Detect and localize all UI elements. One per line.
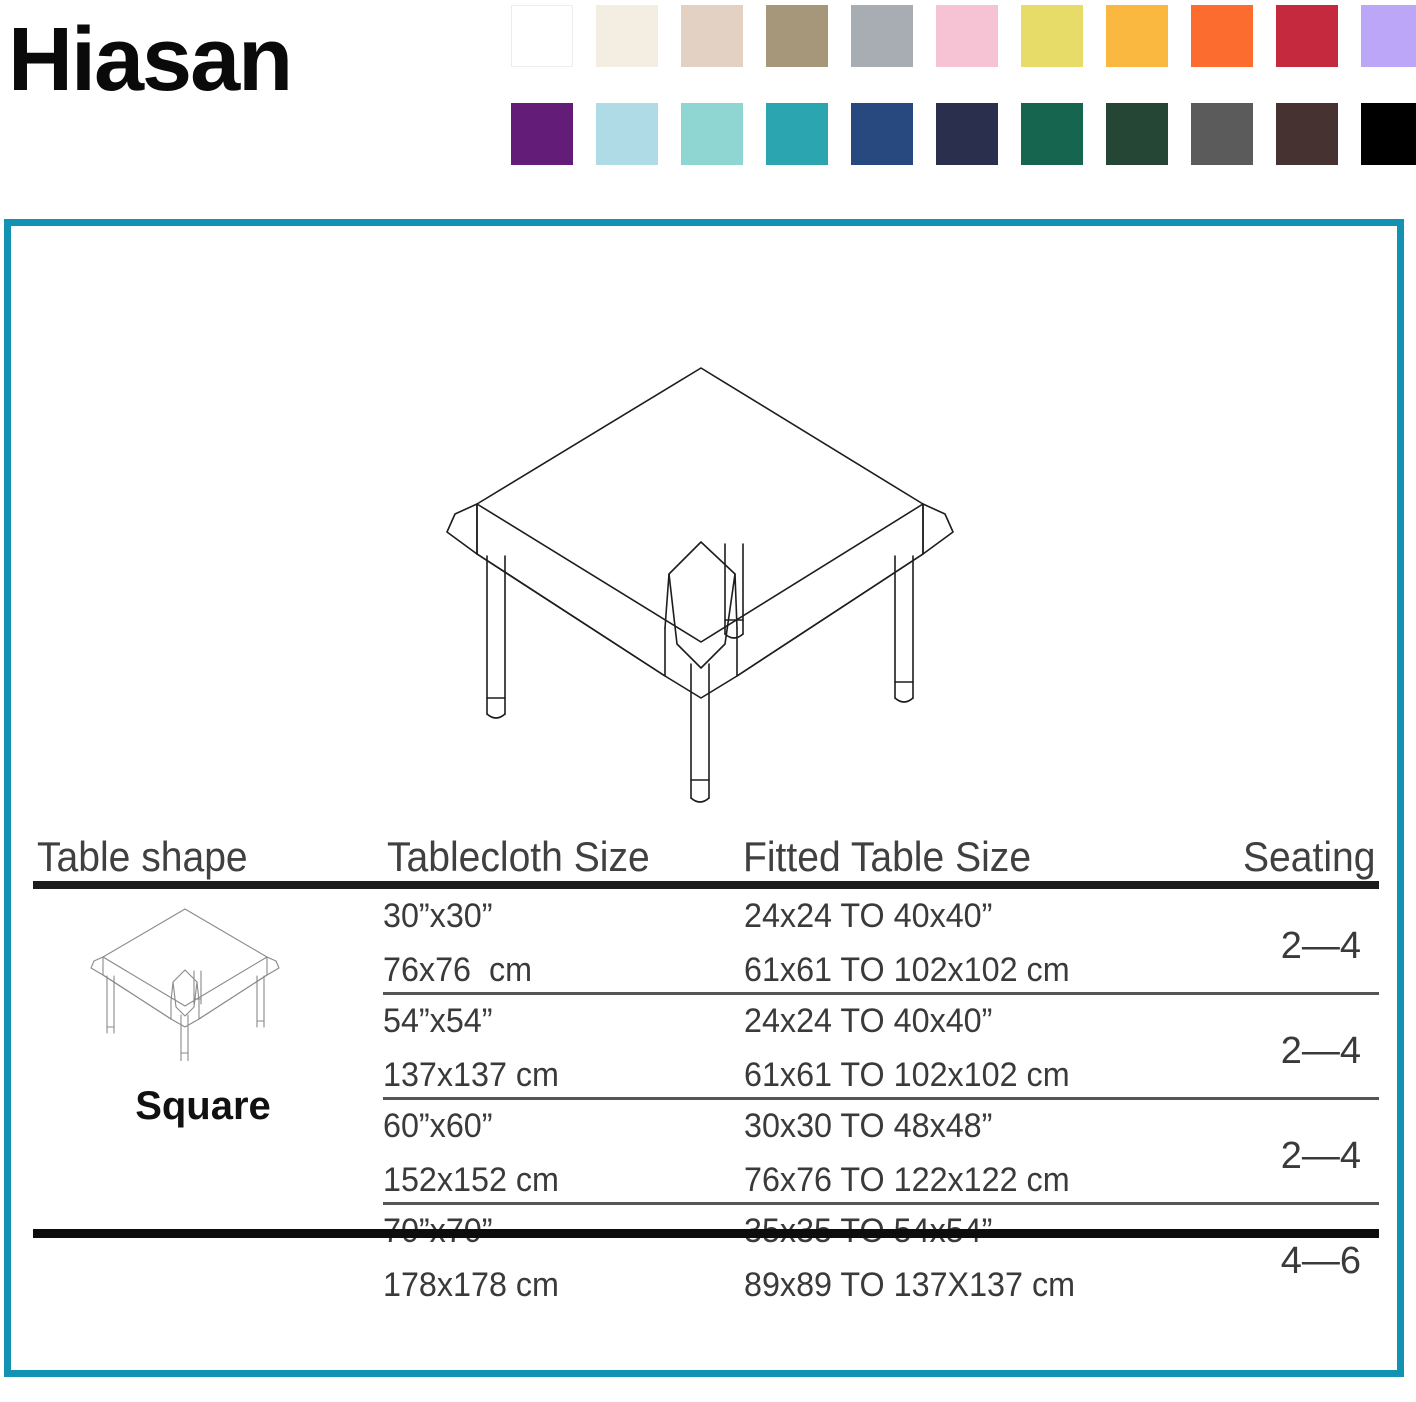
header-band: Hiasan: [0, 0, 1416, 205]
color-swatch-black[interactable]: [1361, 103, 1416, 165]
table-body: Square 30”x30”76x76 cm24x24 TO 40x40”61x…: [33, 889, 1379, 1309]
cell-tablecloth-size-inches: 30”x30”: [383, 897, 493, 936]
cell-fitted-size-inches: 24x24 TO 40x40”: [744, 897, 992, 936]
cell-tablecloth-size-cm: 76x76 cm: [383, 951, 532, 990]
color-swatch-purple[interactable]: [511, 103, 573, 165]
color-swatch-brown[interactable]: [1276, 103, 1338, 165]
column-header-tablecloth-size: Tablecloth Size: [387, 833, 650, 881]
color-swatch-dark-gray[interactable]: [1191, 103, 1253, 165]
size-chart-panel: Table shape Tablecloth Size Fitted Table…: [4, 219, 1404, 1377]
column-header-table-shape: Table shape: [37, 833, 248, 881]
cell-tablecloth-size-cm: 152x152 cm: [383, 1161, 559, 1200]
color-swatch-lavender[interactable]: [1361, 5, 1416, 67]
color-swatch-emerald[interactable]: [1021, 103, 1083, 165]
color-swatch-yellow[interactable]: [1021, 5, 1083, 67]
color-swatch-teal[interactable]: [766, 103, 828, 165]
table-row: 60”x60”152x152 cm30x30 TO 48x48”76x76 TO…: [33, 1099, 1379, 1204]
color-swatch-orange[interactable]: [1191, 5, 1253, 67]
cell-fitted-size-cm: 76x76 TO 122x122 cm: [744, 1161, 1070, 1200]
color-swatch-navy[interactable]: [936, 103, 998, 165]
color-swatch-gray[interactable]: [851, 5, 913, 67]
header-divider-rule: [33, 881, 1379, 889]
color-swatch-pink[interactable]: [936, 5, 998, 67]
cell-fitted-size-cm: 61x61 TO 102x102 cm: [744, 1056, 1070, 1095]
color-swatch-blue[interactable]: [851, 103, 913, 165]
color-swatch-beige[interactable]: [681, 5, 743, 67]
cell-tablecloth-size-inches: 54”x54”: [383, 1002, 493, 1041]
cell-fitted-size-inches: 30x30 TO 48x48”: [744, 1107, 992, 1146]
size-table: Table shape Tablecloth Size Fitted Table…: [33, 809, 1379, 1309]
color-swatch-row-2: [511, 103, 1411, 165]
color-swatch-taupe[interactable]: [766, 5, 828, 67]
table-row: 70”x70”178x178 cm35x35 TO 54x54”89x89 TO…: [33, 1204, 1379, 1309]
table-row: 54”x54”137x137 cm24x24 TO 40x40”61x61 TO…: [33, 994, 1379, 1099]
cell-seating: 4—6: [1281, 1240, 1361, 1283]
cell-tablecloth-size-inches: 60”x60”: [383, 1107, 493, 1146]
cell-fitted-size-cm: 89x89 TO 137X137 cm: [744, 1266, 1075, 1305]
color-swatch-grid: [511, 5, 1411, 201]
color-swatch-forest[interactable]: [1106, 103, 1168, 165]
cell-seating: 2—4: [1281, 1030, 1361, 1073]
cell-tablecloth-size-cm: 137x137 cm: [383, 1056, 559, 1095]
color-swatch-white[interactable]: [511, 5, 573, 67]
cell-tablecloth-size-cm: 178x178 cm: [383, 1266, 559, 1305]
color-swatch-gold[interactable]: [1106, 5, 1168, 67]
column-header-seating: Seating: [1243, 833, 1375, 881]
color-swatch-light-blue[interactable]: [596, 103, 658, 165]
column-header-fitted-size: Fitted Table Size: [743, 833, 1031, 881]
table-bottom-rule: [33, 1229, 1379, 1238]
square-tablecloth-illustration: [425, 346, 975, 816]
table-row: 30”x30”76x76 cm24x24 TO 40x40”61x61 TO 1…: [33, 889, 1379, 994]
table-header-row: Table shape Tablecloth Size Fitted Table…: [33, 809, 1379, 881]
color-swatch-red[interactable]: [1276, 5, 1338, 67]
cell-seating: 2—4: [1281, 925, 1361, 968]
color-swatch-aqua[interactable]: [681, 103, 743, 165]
color-swatch-ivory[interactable]: [596, 5, 658, 67]
cell-fitted-size-inches: 24x24 TO 40x40”: [744, 1002, 992, 1041]
cell-fitted-size-cm: 61x61 TO 102x102 cm: [744, 951, 1070, 990]
cell-seating: 2—4: [1281, 1135, 1361, 1178]
color-swatch-row-1: [511, 5, 1411, 67]
brand-logo: Hiasan: [8, 8, 291, 112]
